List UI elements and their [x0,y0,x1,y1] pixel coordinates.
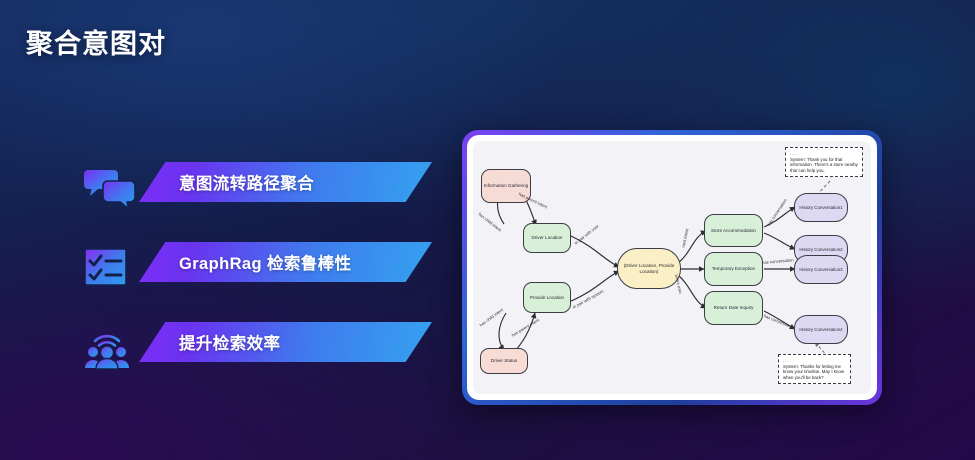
feature-label-2: GraphRag 检索鲁棒性 [139,250,351,274]
feature-row-2[interactable]: GraphRag 检索鲁棒性 [82,240,442,320]
note-text: System: Thank you for that information. … [790,157,858,173]
feature-banner-1[interactable]: 意图流转路径聚合 [139,162,432,202]
diagram-note-bottom[interactable]: ... System: Thanks for letting me know y… [778,354,851,384]
diagram-node-driver-location[interactable]: Driver Location [523,223,571,253]
node-label: History Conversation2 [799,247,842,252]
node-label: Driver Status [491,358,518,363]
speech-bubbles-icon [82,164,138,210]
node-label: History Conversation3 [799,267,842,272]
diagram-node-history-conversation-1[interactable]: History Conversation1 [794,193,848,222]
diagram-note-top[interactable]: ... System: Thank you for that informati… [785,147,863,177]
checklist-icon [82,244,138,290]
node-label: Information Gathering [484,183,528,188]
node-label: History Conversation1 [799,205,842,210]
node-label: History Conversation4 [799,327,842,332]
node-label: Driver Location [532,235,563,240]
slide-canvas: 聚合意图对 意图流转路径聚合 [0,0,975,460]
node-label: (Driver Location, Provide Location) [621,263,677,274]
note-text: System: Thanks for letting me know your … [783,364,844,380]
diagram-node-intent-pair[interactable]: (Driver Location, Provide Location) [617,248,681,289]
diagram-card-inner: Information Gathering Driver Location Pr… [467,135,877,400]
feature-row-1[interactable]: 意图流转路径聚合 [82,160,442,240]
node-label: Store Accommodation [711,228,756,233]
feature-banner-3[interactable]: 提升检索效率 [139,322,432,362]
diagram-node-temporary-exception[interactable]: Temporary Exception [704,252,763,286]
diagram-card: Information Gathering Driver Location Pr… [462,130,882,405]
node-label: Temporary Exception [712,266,755,271]
feature-label-3: 提升检索效率 [139,330,280,354]
diagram-node-history-conversation-4[interactable]: History Conversation4 [794,315,848,344]
feature-list: 意图流转路径聚合 GraphRag [82,160,442,400]
feature-label-1: 意图流转路径聚合 [139,170,314,194]
audience-broadcast-icon [82,324,138,370]
page-title: 聚合意图对 [26,22,166,61]
diagram-node-driver-status[interactable]: Driver Status [480,348,528,374]
node-label: Return Date Inquiry [714,305,754,310]
feature-banner-2[interactable]: GraphRag 检索鲁棒性 [139,242,432,282]
diagram-canvas[interactable]: Information Gathering Driver Location Pr… [473,141,871,394]
diagram-node-history-conversation-3[interactable]: History Conversation3 [794,255,848,284]
feature-row-3[interactable]: 提升检索效率 [82,320,442,400]
diagram-node-store-accommodation[interactable]: Store Accommodation [704,214,763,247]
node-label: Provide Location [530,295,564,300]
diagram-node-return-date-inquiry[interactable]: Return Date Inquiry [704,291,763,325]
diagram-node-provide-location[interactable]: Provide Location [523,282,571,313]
